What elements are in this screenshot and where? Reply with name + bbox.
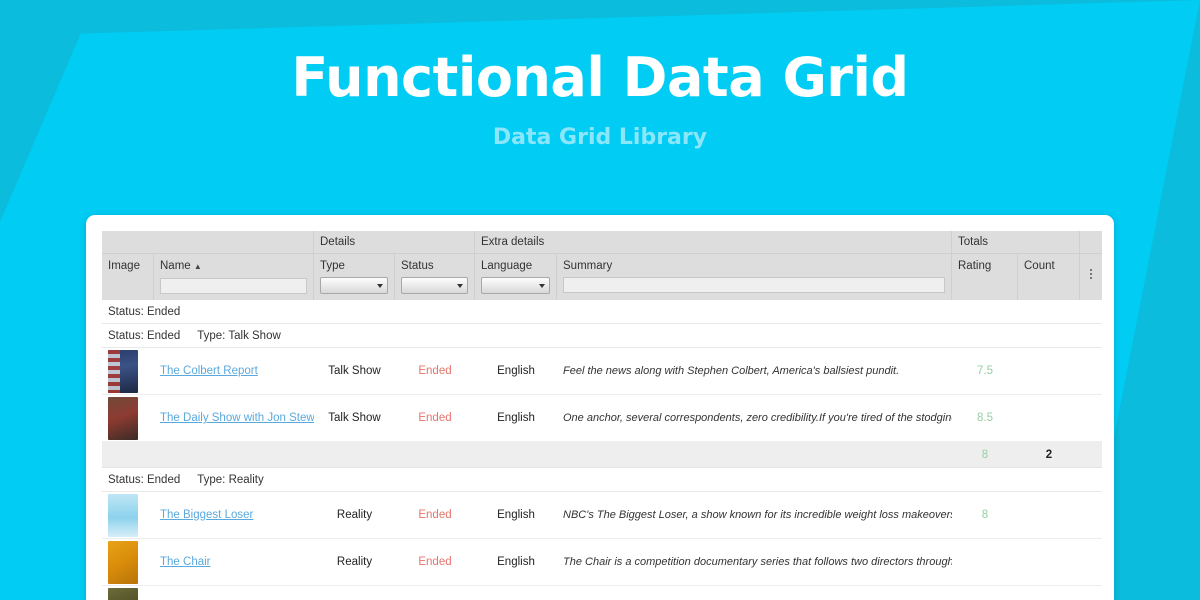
- column-header-summary-label: Summary: [563, 259, 945, 273]
- row-language-cell: English: [475, 556, 557, 568]
- header-group-blank: [102, 231, 314, 253]
- row-image-cell: [102, 541, 154, 584]
- row-status-cell: Ended: [395, 509, 475, 521]
- row-rating-cell: 8.5: [952, 412, 1018, 424]
- hero-banner: Functional Data Grid Data Grid Library: [0, 0, 1200, 150]
- row-status-cell: Ended: [395, 412, 475, 424]
- table-row-partial[interactable]: [102, 586, 1102, 600]
- the-chair-thumbnail: [108, 541, 138, 584]
- daily-show-thumbnail: [108, 397, 138, 440]
- row-rating-cell: 8: [952, 509, 1018, 521]
- chevron-down-icon: [457, 284, 463, 288]
- sort-ascending-icon[interactable]: ▲: [194, 262, 202, 271]
- row-name-link[interactable]: The Daily Show with Jon Stewart: [160, 412, 314, 424]
- summary-filter-input[interactable]: [563, 277, 945, 293]
- page-subtitle: Data Grid Library: [0, 107, 1200, 150]
- header-group-row: Details Extra details Totals: [102, 231, 1102, 253]
- aggregate-rating: 8: [952, 449, 1018, 461]
- partial-thumbnail: [108, 588, 138, 600]
- row-type-cell: Reality: [314, 556, 395, 568]
- row-status-cell: Ended: [395, 556, 475, 568]
- aggregate-count: 2: [1018, 449, 1080, 461]
- page-root: Functional Data Grid Data Grid Library D…: [0, 0, 1200, 600]
- type-filter-select[interactable]: [320, 277, 388, 294]
- header-group-details: Details: [314, 231, 475, 253]
- row-image-cell: [102, 494, 154, 537]
- row-language-cell: English: [475, 365, 557, 377]
- group-header-row[interactable]: Status: Ended Type: Talk Show: [102, 324, 1102, 348]
- biggest-loser-thumbnail: [108, 494, 138, 537]
- row-summary-cell: NBC's The Biggest Loser, a show known fo…: [557, 509, 952, 521]
- row-rating-cell: 7.5: [952, 365, 1018, 377]
- table-row[interactable]: The Chair Reality Ended English The Chai…: [102, 539, 1102, 586]
- column-header-language[interactable]: Language: [475, 253, 557, 300]
- row-image-cell: [102, 397, 154, 440]
- column-header-name-text: Name: [160, 260, 191, 272]
- kebab-dot: [1090, 273, 1092, 275]
- table-row[interactable]: The Daily Show with Jon Stewart Talk Sho…: [102, 395, 1102, 442]
- header-column-row: Image Name ▲ Type Status: [102, 253, 1102, 300]
- row-summary-cell: The Chair is a competition documentary s…: [557, 556, 952, 568]
- column-header-name[interactable]: Name ▲: [154, 253, 314, 300]
- name-filter-input[interactable]: [160, 278, 307, 294]
- column-header-status[interactable]: Status: [395, 253, 475, 300]
- data-grid: Details Extra details Totals Image Name …: [102, 231, 1102, 600]
- row-status-cell: Ended: [395, 365, 475, 377]
- chevron-down-icon: [377, 284, 383, 288]
- column-header-image[interactable]: Image: [102, 253, 154, 300]
- row-language-cell: English: [475, 412, 557, 424]
- aggregate-row: 8 2: [102, 442, 1102, 468]
- column-header-rating[interactable]: Rating: [952, 253, 1018, 300]
- table-row[interactable]: The Biggest Loser Reality Ended English …: [102, 492, 1102, 539]
- data-grid-panel: Details Extra details Totals Image Name …: [86, 215, 1114, 600]
- row-name-link[interactable]: The Colbert Report: [160, 365, 258, 377]
- table-row[interactable]: The Colbert Report Talk Show Ended Engli…: [102, 348, 1102, 395]
- header-group-menu-blank: [1080, 231, 1102, 253]
- column-header-count-label: Count: [1024, 259, 1073, 273]
- kebab-dot: [1090, 277, 1092, 279]
- column-header-type-label: Type: [320, 259, 388, 273]
- row-language-cell: English: [475, 509, 557, 521]
- row-summary-cell: One anchor, several correspondents, zero…: [557, 412, 952, 424]
- row-type-cell: Talk Show: [314, 412, 395, 424]
- status-filter-select[interactable]: [401, 277, 468, 294]
- column-header-type[interactable]: Type: [314, 253, 395, 300]
- group-key-type: Type: Talk Show: [197, 330, 281, 342]
- group-header-row[interactable]: Status: Ended: [102, 300, 1102, 324]
- row-name-cell: The Colbert Report: [154, 365, 314, 377]
- row-image-cell: [102, 588, 154, 600]
- column-header-image-label: Image: [108, 259, 147, 273]
- kebab-menu-icon[interactable]: [1086, 261, 1096, 287]
- language-filter-select[interactable]: [481, 277, 550, 294]
- column-header-status-label: Status: [401, 259, 468, 273]
- row-image-cell: [102, 350, 154, 393]
- column-header-name-label: Name ▲: [160, 259, 307, 274]
- header-group-totals: Totals: [952, 231, 1080, 253]
- group-key-status: Status: Ended: [108, 306, 180, 318]
- group-key-status: Status: Ended: [108, 330, 180, 342]
- row-summary-cell: Feel the news along with Stephen Colbert…: [557, 365, 952, 377]
- group-key-status: Status: Ended: [108, 474, 180, 486]
- row-name-cell: The Daily Show with Jon Stewart: [154, 412, 314, 424]
- column-header-language-label: Language: [481, 259, 550, 273]
- row-name-cell: The Biggest Loser: [154, 509, 314, 521]
- row-type-cell: Talk Show: [314, 365, 395, 377]
- group-header-row[interactable]: Status: Ended Type: Reality: [102, 468, 1102, 492]
- page-title: Functional Data Grid: [0, 0, 1200, 107]
- column-header-menu[interactable]: [1080, 253, 1102, 300]
- colbert-thumbnail: [108, 350, 138, 393]
- chevron-down-icon: [539, 284, 545, 288]
- row-name-link[interactable]: The Chair: [160, 556, 211, 568]
- row-name-cell: The Chair: [154, 556, 314, 568]
- row-type-cell: Reality: [314, 509, 395, 521]
- row-name-link[interactable]: The Biggest Loser: [160, 509, 253, 521]
- group-key-type: Type: Reality: [197, 474, 263, 486]
- column-header-rating-label: Rating: [958, 259, 1011, 273]
- column-header-summary[interactable]: Summary: [557, 253, 952, 300]
- kebab-dot: [1090, 269, 1092, 271]
- header-group-extra-details: Extra details: [475, 231, 952, 253]
- column-header-count[interactable]: Count: [1018, 253, 1080, 300]
